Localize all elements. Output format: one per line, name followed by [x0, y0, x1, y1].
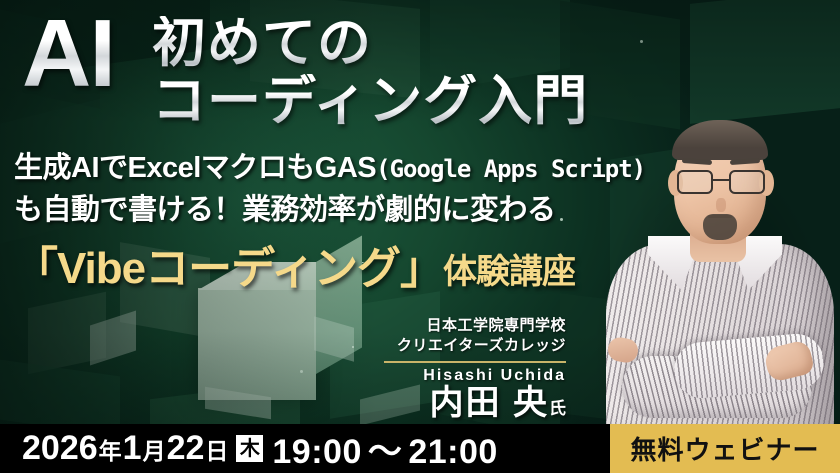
subcopy-line2: も自動で書ける！業務効率が劇的に変わる: [14, 186, 556, 228]
bottom-bar: 2026年1月22日 木 19:00〜21:00 無料ウェビナー: [0, 424, 840, 473]
glasses-lens-left: [677, 170, 713, 194]
event-day-unit: 日: [204, 432, 229, 466]
vibe-middle: コーディング: [145, 244, 400, 293]
webinar-promo-banner: AI 初めての コーディング入門 生成AIでExcelマクロもGAS(Googl…: [0, 0, 840, 473]
subcopy-line1-main: 生成AIでExcelマクロもGAS: [14, 152, 376, 184]
free-webinar-badge: 無料ウェビナー: [610, 424, 840, 473]
headline-line2: コーディング入門: [152, 74, 588, 128]
speaker-info: 日本工学院専門学校 クリエイターズカレッジ Hisashi Uchida 内田 …: [384, 316, 566, 422]
event-month: 1: [123, 429, 142, 468]
event-month-unit: 月: [142, 432, 167, 466]
speaker-name-text: 内田 央: [430, 384, 549, 422]
event-time-separator: 〜: [362, 433, 409, 471]
subcopy-line1-paren: (Google Apps Script): [376, 155, 645, 183]
vibe-close-quote: 」: [400, 244, 443, 293]
headline-line1: 初めての: [152, 16, 372, 70]
vibe-open-quote: 「: [14, 244, 57, 293]
glasses-lens-right: [729, 170, 765, 194]
vibe-course-line: 「Vibeコーディング」体験講座: [14, 232, 575, 296]
photo-goatee: [703, 214, 737, 240]
speaker-photo: [578, 15, 840, 440]
event-year: 2026: [22, 429, 98, 468]
speaker-org-line2: クリエイターズカレッジ: [384, 336, 566, 356]
vibe-tail: 体験講座: [443, 253, 575, 291]
speaker-org-line1: 日本工学院専門学校: [384, 316, 566, 336]
event-time: 19:00〜21:00: [272, 424, 497, 473]
event-day: 22: [167, 429, 205, 468]
glasses-bridge: [713, 179, 729, 181]
speaker-name-suffix: 氏: [549, 399, 566, 418]
photo-hair: [672, 120, 768, 160]
speaker-name: 内田 央氏: [384, 385, 566, 422]
event-time-start: 19:00: [272, 433, 361, 471]
glasses-icon: [676, 170, 766, 194]
event-weekday-badge: 木: [236, 435, 263, 462]
subcopy-line1: 生成AIでExcelマクロもGAS(Google Apps Script): [14, 144, 645, 186]
event-time-end: 21:00: [408, 433, 497, 471]
event-year-unit: 年: [98, 432, 123, 466]
speaker-romaji: Hisashi Uchida: [384, 367, 566, 385]
vibe-brand: Vibe: [57, 244, 145, 293]
event-datetime: 2026年1月22日 木 19:00〜21:00: [0, 424, 498, 473]
photo-nose: [716, 198, 726, 212]
headline-ai: AI: [22, 6, 114, 102]
speaker-divider: [384, 361, 566, 363]
